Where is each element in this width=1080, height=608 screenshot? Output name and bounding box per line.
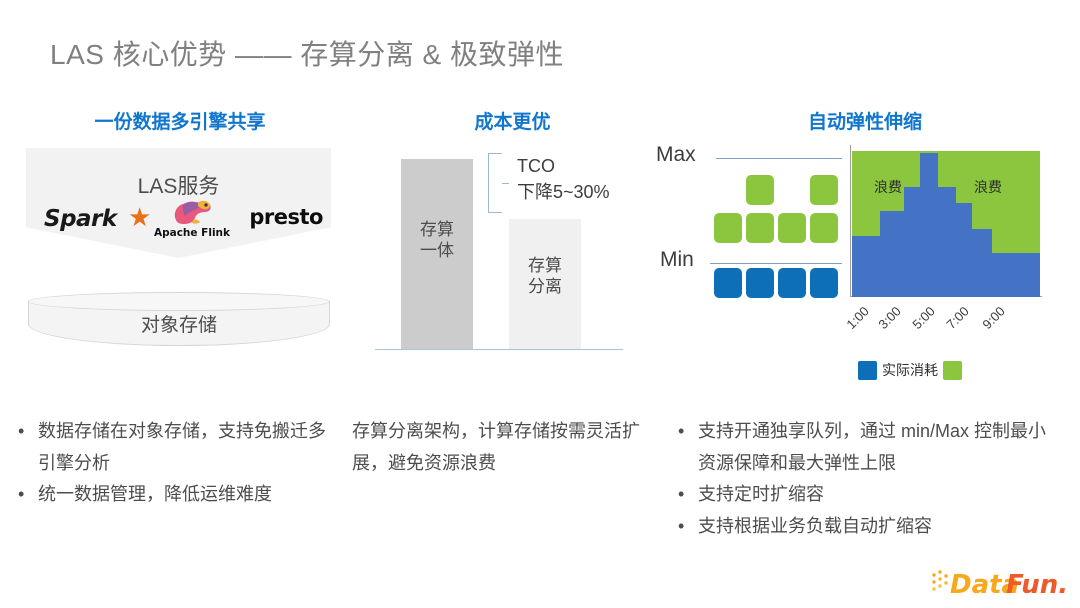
list-item: • 支持根据业务负载自动扩缩容 xyxy=(678,511,1048,543)
bar-separated: 存算 分离 xyxy=(509,219,581,349)
cylinder-top xyxy=(28,292,330,311)
elasticity-diagram: Max Min 浪费 浪费 1:00 3:00 5:00 7:00 9:00 实… xyxy=(650,140,1050,380)
area-chart-svg xyxy=(852,151,1040,297)
tco-annotation: TCO 下降5~30% xyxy=(517,153,610,205)
page-title: LAS 核心优势 —— 存算分离 & 极致弹性 xyxy=(50,33,564,73)
bullet-list-column-2: 存算分离架构，计算存储按需灵活扩展，避免资源浪费 xyxy=(352,416,662,479)
max-label: Max xyxy=(656,143,696,167)
capacity-block-blue xyxy=(778,268,806,298)
waste-label-right: 浪费 xyxy=(974,177,1002,197)
capacity-block-blue xyxy=(746,268,774,298)
tco-bracket xyxy=(488,153,502,213)
usage-area-chart: 浪费 浪费 1:00 3:00 5:00 7:00 9:00 实际消耗 xyxy=(850,145,1046,380)
capacity-block-green xyxy=(778,213,806,243)
apache-flink-logo-text: Apache Flink xyxy=(144,227,240,239)
min-label: Min xyxy=(660,248,694,272)
x-tick-label: 7:00 xyxy=(943,303,972,332)
bullet-dot-icon: • xyxy=(678,511,698,543)
min-guide-line xyxy=(710,263,842,264)
list-item: 存算分离架构，计算存储按需灵活扩展，避免资源浪费 xyxy=(352,416,662,479)
capacity-block-green xyxy=(810,175,838,205)
capacity-block-blue xyxy=(714,268,742,298)
spark-logo-text: Spark xyxy=(44,206,117,232)
bullet-text: 存算分离架构，计算存储按需灵活扩展，避免资源浪费 xyxy=(352,416,662,479)
bullet-text: 支持定时扩缩容 xyxy=(698,479,1048,511)
bullet-list-column-1: • 数据存储在对象存储，支持免搬迁多引擎分析 • 统一数据管理，降低运维难度 xyxy=(18,416,338,511)
bar-integrated: 存算 一体 xyxy=(401,159,473,349)
x-tick-label: 5:00 xyxy=(909,303,938,332)
legend-swatch-actual xyxy=(858,361,877,380)
waste-label-left: 浪费 xyxy=(874,177,902,197)
squirrel-icon xyxy=(169,198,215,226)
x-tick-label: 1:00 xyxy=(843,303,872,332)
list-item: • 数据存储在对象存储，支持免搬迁多引擎分析 xyxy=(18,416,338,479)
capacity-block-green xyxy=(746,213,774,243)
list-item: • 支持开通独享队列，通过 min/Max 控制最小资源保障和最大弹性上限 xyxy=(678,416,1048,479)
max-guide-line xyxy=(716,158,842,159)
x-tick-label: 3:00 xyxy=(875,303,904,332)
object-storage-cylinder: 对象存储 xyxy=(28,292,330,346)
bullet-dot-icon: • xyxy=(18,479,38,511)
engine-logo-group: Spark ★ Apache Flink presto xyxy=(26,196,331,246)
spark-logo: Spark ★ xyxy=(44,206,117,232)
bullet-list-column-3: • 支持开通独享队列，通过 min/Max 控制最小资源保障和最大弹性上限 • … xyxy=(678,416,1048,542)
bullet-dot-icon: • xyxy=(678,416,698,448)
bullet-text: 统一数据管理，降低运维难度 xyxy=(38,479,338,511)
capacity-block-green xyxy=(714,213,742,243)
capacity-block-green xyxy=(810,213,838,243)
x-tick-label: 9:00 xyxy=(979,303,1008,332)
bullet-text: 支持开通独享队列，通过 min/Max 控制最小资源保障和最大弹性上限 xyxy=(698,416,1048,479)
column-header-cost: 成本更优 xyxy=(375,107,650,134)
column-header-data-sharing: 一份数据多引擎共享 xyxy=(20,107,340,134)
chart-legend: 实际消耗 xyxy=(858,360,962,380)
chart-y-axis xyxy=(850,145,851,297)
cost-bar-chart: 存算 一体 存算 分离 TCO 下降5~30% xyxy=(375,145,655,350)
list-item: • 支持定时扩缩容 xyxy=(678,479,1048,511)
logo-dots xyxy=(932,570,947,590)
capacity-block-green xyxy=(746,175,774,205)
legend-swatch-waste xyxy=(943,361,962,380)
column-header-elasticity: 自动弹性伸缩 xyxy=(690,107,1040,134)
datafun-logo-text-accent: Fun. xyxy=(1006,570,1068,600)
bullet-dot-icon: • xyxy=(18,416,38,448)
capacity-block-blue xyxy=(810,268,838,298)
chart-baseline xyxy=(375,349,623,350)
bullet-dot-icon: • xyxy=(678,479,698,511)
datafun-logo: Data Fun. xyxy=(930,566,1072,602)
presto-logo: presto xyxy=(249,205,323,229)
apache-flink-logo: Apache Flink xyxy=(144,198,240,239)
legend-label-actual: 实际消耗 xyxy=(882,360,938,380)
object-storage-label: 对象存储 xyxy=(28,310,330,337)
bullet-text: 支持根据业务负载自动扩缩容 xyxy=(698,511,1048,543)
list-item: • 统一数据管理，降低运维难度 xyxy=(18,479,338,511)
datafun-logo-svg: Data Fun. xyxy=(930,566,1072,602)
bullet-text: 数据存储在对象存储，支持免搬迁多引擎分析 xyxy=(38,416,338,479)
